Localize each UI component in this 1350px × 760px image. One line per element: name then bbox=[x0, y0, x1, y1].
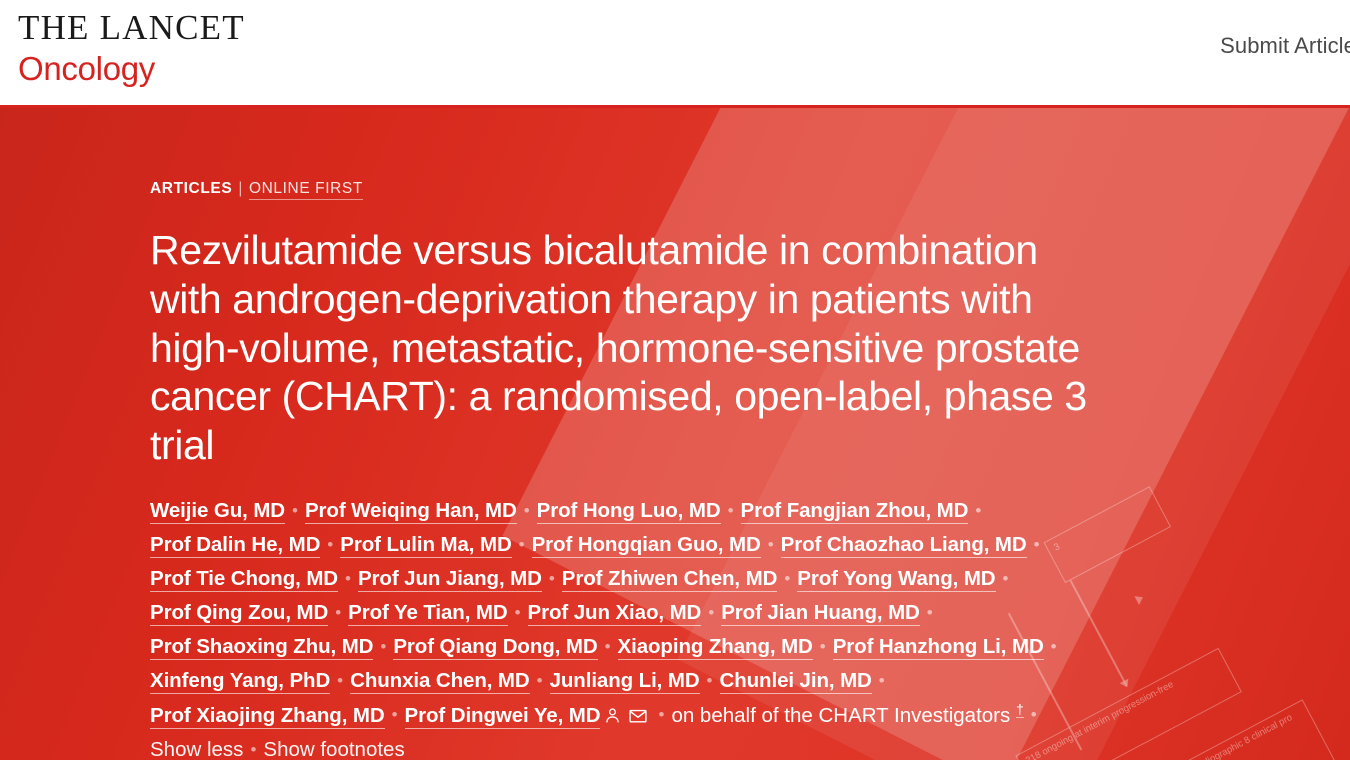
watermark-arrow bbox=[1134, 593, 1145, 605]
author-separator-dot: • bbox=[784, 565, 790, 593]
author-link[interactable]: Prof Qiang Dong, MD bbox=[393, 635, 597, 660]
author-link[interactable]: Prof Ye Tian, MD bbox=[348, 601, 507, 626]
brand-title-lancet: THE LANCET bbox=[18, 8, 245, 48]
envelope-icon[interactable] bbox=[628, 706, 648, 726]
author-separator-dot: • bbox=[1034, 531, 1040, 559]
author-link[interactable]: Prof Qing Zou, MD bbox=[150, 601, 328, 626]
author-link[interactable]: Prof Yong Wang, MD bbox=[797, 567, 995, 592]
author-separator-dot: • bbox=[292, 497, 298, 525]
submit-article-link[interactable]: Submit Article bbox=[1220, 33, 1350, 58]
author-separator-dot: • bbox=[605, 633, 611, 661]
page-title: Rezvilutamide versus bicalutamide in com… bbox=[150, 226, 1120, 470]
author-link[interactable]: Prof Hongqian Guo, MD bbox=[532, 533, 761, 558]
author-link[interactable]: Prof Jun Xiao, MD bbox=[528, 601, 702, 626]
author-separator-dot: • bbox=[1051, 633, 1057, 661]
brand-title-oncology: Oncology bbox=[18, 50, 245, 88]
author-separator-dot: • bbox=[1003, 565, 1009, 593]
author-link[interactable]: Prof Zhiwen Chen, MD bbox=[562, 567, 778, 592]
header-nav: Submit Article bbox=[1214, 0, 1350, 59]
breadcrumb: ARTICLES|ONLINE FIRST bbox=[150, 180, 1120, 198]
author-link[interactable]: Xiaoping Zhang, MD bbox=[618, 635, 813, 660]
on-behalf-of-text: on behalf of the CHART Investigators † bbox=[671, 704, 1023, 727]
author-separator-dot: • bbox=[707, 667, 713, 695]
author-separator-dot: • bbox=[335, 599, 341, 627]
author-separator-dot: • bbox=[658, 701, 664, 729]
article-hero-banner: 3 218 ongoing at interim progression-fre… bbox=[0, 108, 1350, 760]
author-link[interactable]: Prof Jun Jiang, MD bbox=[358, 567, 542, 592]
author-link[interactable]: Prof Xiaojing Zhang, MD bbox=[150, 704, 385, 729]
author-separator-dot: • bbox=[327, 531, 333, 559]
on-behalf-of-label: on behalf of the CHART Investigators bbox=[671, 704, 1010, 727]
breadcrumb-section-articles[interactable]: ARTICLES bbox=[150, 180, 232, 197]
author-link[interactable]: Weijie Gu, MD bbox=[150, 499, 285, 524]
person-icon[interactable] bbox=[603, 706, 622, 725]
show-footnotes-button[interactable]: Show footnotes bbox=[263, 738, 404, 760]
author-link[interactable]: Chunxia Chen, MD bbox=[350, 669, 530, 694]
author-separator-dot: • bbox=[380, 633, 386, 661]
author-separator-dot: • bbox=[927, 599, 933, 627]
lancet-oncology-logo[interactable]: THE LANCET Oncology bbox=[0, 0, 245, 88]
author-separator-dot: • bbox=[519, 531, 525, 559]
author-separator-dot: • bbox=[768, 531, 774, 559]
author-link[interactable]: Prof Hong Luo, MD bbox=[537, 499, 721, 524]
author-link[interactable]: Prof Lulin Ma, MD bbox=[340, 533, 511, 558]
author-separator-dot: • bbox=[549, 565, 555, 593]
watermark-box-discontinued: 27 discontinued 13 radiographic 8 clinic… bbox=[1113, 699, 1343, 760]
author-separator-dot: • bbox=[728, 497, 734, 525]
author-separator-dot: • bbox=[345, 565, 351, 593]
author-separator-dot: • bbox=[524, 497, 530, 525]
footnote-marker[interactable]: † bbox=[1016, 701, 1024, 718]
author-link[interactable]: Xinfeng Yang, PhD bbox=[150, 669, 330, 694]
author-list: Weijie Gu, MD•Prof Weiqing Han, MD•Prof … bbox=[150, 494, 1120, 760]
author-separator-dot: • bbox=[537, 667, 543, 695]
author-link[interactable]: Prof Dingwei Ye, MD bbox=[405, 704, 601, 729]
author-separator-dot: • bbox=[1031, 701, 1037, 729]
author-separator-dot: • bbox=[250, 736, 256, 760]
author-separator-dot: • bbox=[879, 667, 885, 695]
breadcrumb-separator: | bbox=[238, 180, 243, 197]
author-link[interactable]: Prof Dalin He, MD bbox=[150, 533, 320, 558]
author-link[interactable]: Junliang Li, MD bbox=[550, 669, 700, 694]
author-link[interactable]: Chunlei Jin, MD bbox=[720, 669, 872, 694]
author-separator-dot: • bbox=[820, 633, 826, 661]
author-separator-dot: • bbox=[392, 701, 398, 729]
breadcrumb-online-first[interactable]: ONLINE FIRST bbox=[249, 180, 363, 200]
author-link[interactable]: Prof Fangjian Zhou, MD bbox=[741, 499, 969, 524]
author-separator-dot: • bbox=[337, 667, 343, 695]
watermark-arrow bbox=[1120, 679, 1132, 690]
site-header: THE LANCET Oncology Submit Article bbox=[0, 0, 1350, 108]
author-link[interactable]: Prof Tie Chong, MD bbox=[150, 567, 338, 592]
author-link[interactable]: Prof Weiqing Han, MD bbox=[305, 499, 517, 524]
author-link[interactable]: Prof Hanzhong Li, MD bbox=[833, 635, 1044, 660]
show-less-button[interactable]: Show less bbox=[150, 738, 243, 760]
author-separator-dot: • bbox=[975, 497, 981, 525]
author-link[interactable]: Prof Chaozhao Liang, MD bbox=[781, 533, 1027, 558]
page-root: THE LANCET Oncology Submit Article 3 218… bbox=[0, 0, 1350, 760]
author-link[interactable]: Prof Shaoxing Zhu, MD bbox=[150, 635, 373, 660]
author-link[interactable]: Prof Jian Huang, MD bbox=[721, 601, 920, 626]
hero-content: ARTICLES|ONLINE FIRST Rezvilutamide vers… bbox=[0, 108, 1120, 760]
author-separator-dot: • bbox=[708, 599, 714, 627]
author-separator-dot: • bbox=[515, 599, 521, 627]
